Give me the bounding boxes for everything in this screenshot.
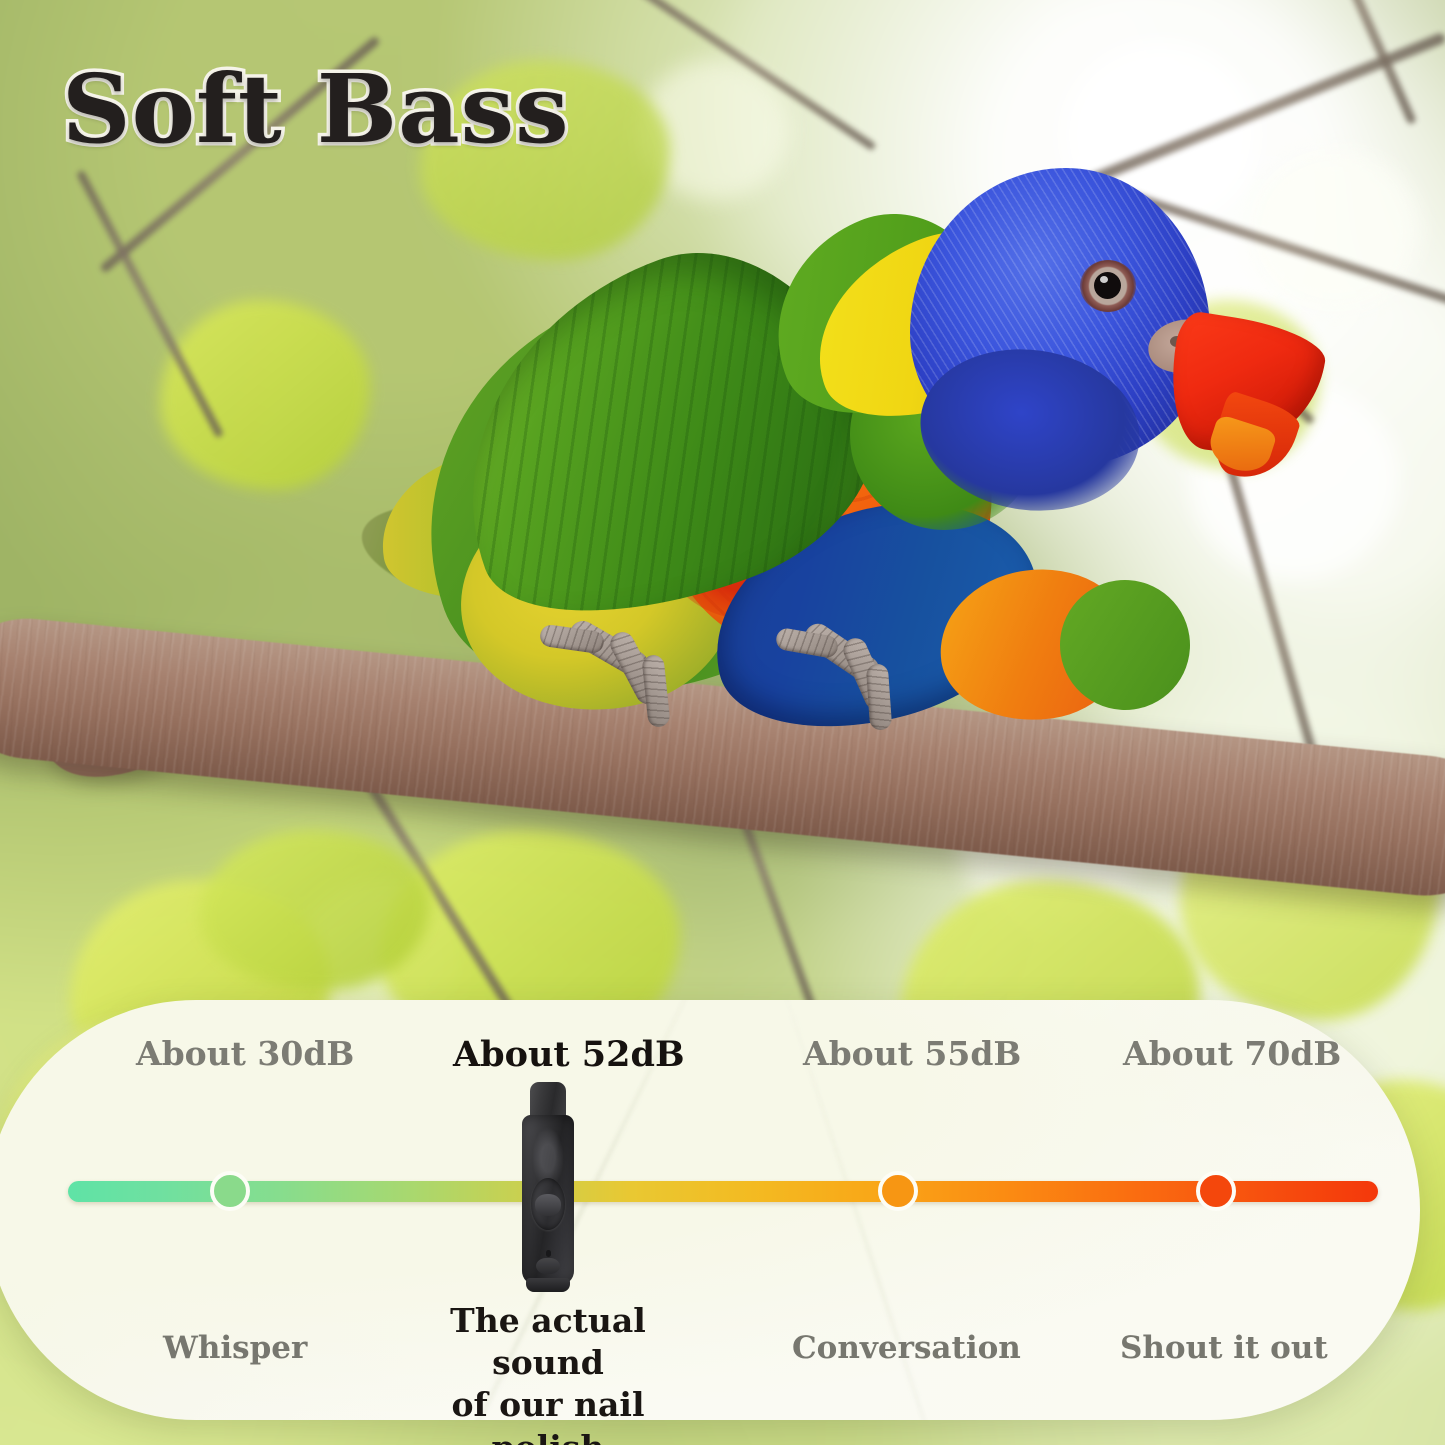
- caption-actual-sound-line2: of our nail polish: [398, 1384, 698, 1445]
- leaf-cluster: [160, 300, 370, 490]
- device-indicator-dot: [546, 1250, 551, 1257]
- db-label-52: About 52dB: [453, 1034, 685, 1075]
- db-label-30: About 30dB: [136, 1034, 354, 1073]
- bird-eye-glint: [1100, 276, 1108, 283]
- device-groove: [535, 1194, 561, 1216]
- scale-marker-55db[interactable]: [878, 1171, 918, 1211]
- caption-shout: Shout it out: [1120, 1330, 1328, 1366]
- scale-marker-30db[interactable]: [210, 1171, 250, 1211]
- device-base: [526, 1278, 570, 1292]
- foreground-leaf: [200, 830, 430, 990]
- caption-conversation: Conversation: [792, 1330, 1021, 1366]
- rainbow-lorikeet: [380, 150, 1180, 710]
- product-infographic: Soft Bass About 30dB About 52dB About 55…: [0, 0, 1445, 1445]
- caption-actual-sound: The actual sound of our nail polish: [398, 1300, 698, 1445]
- scale-marker-70db[interactable]: [1196, 1171, 1236, 1211]
- nail-polish-device: [518, 1082, 578, 1294]
- device-lower-button[interactable]: [536, 1258, 560, 1274]
- bird-eye: [1094, 272, 1121, 299]
- db-label-70: About 70dB: [1123, 1034, 1341, 1073]
- decibel-gradient-bar[interactable]: [68, 1181, 1378, 1202]
- caption-actual-sound-line1: The actual sound: [398, 1300, 698, 1384]
- caption-whisper: Whisper: [163, 1330, 307, 1366]
- page-title: Soft Bass: [62, 62, 570, 157]
- db-label-55: About 55dB: [803, 1034, 1021, 1073]
